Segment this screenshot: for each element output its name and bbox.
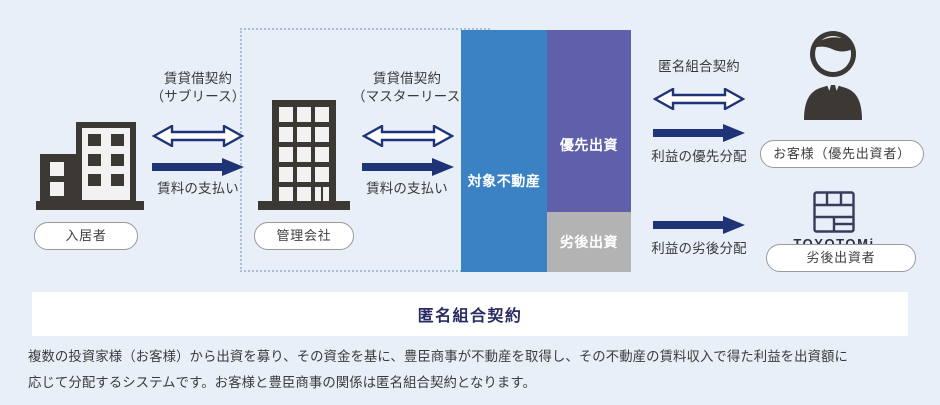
block-junior-investment-label: 劣後出資 xyxy=(560,232,618,252)
sublease-bidirectional-arrow-icon xyxy=(152,125,244,147)
tk-contract-top-label: 匿名組合契約 xyxy=(640,58,758,76)
tk-contract-card: 匿名組合契約 xyxy=(32,292,908,336)
masterlease-payment-arrow-icon xyxy=(362,158,454,176)
tk-contract-bottom-label: 利益の優先分配 xyxy=(640,148,758,166)
customer-person-icon xyxy=(800,30,866,122)
junior-profit-arrow-icon xyxy=(653,216,745,234)
masterlease-bottom-label: 賃料の支払い xyxy=(352,180,462,198)
description-text: 複数の投資家様（お客様）から出資を募り、その資金を基に、豊臣商事が不動産を取得し… xyxy=(28,344,918,396)
block-target-property: 対象不動産 xyxy=(461,30,547,272)
block-target-property-label: 対象不動産 xyxy=(468,171,541,191)
senior-profit-arrow-icon xyxy=(653,124,745,142)
block-senior-investment-label: 優先出資 xyxy=(560,135,618,155)
masterlease-top-label: 賃貸借契約 （マスターリース） xyxy=(352,70,462,106)
tk-contract-card-title: 匿名組合契約 xyxy=(418,302,523,326)
masterlease-top-label-line2: （マスターリース） xyxy=(352,88,462,106)
description-line-1: 複数の投資家様（お客様）から出資を募り、その資金を基に、豊臣商事が不動産を取得し… xyxy=(28,344,918,370)
description-line-2: 応じて分配するシステムです。お客様と豊臣商事の関係は匿名組合契約となります。 xyxy=(28,370,918,396)
management-label: 管理会社 xyxy=(254,222,354,250)
sublease-top-label-line2: （サブリース） xyxy=(148,88,248,106)
block-junior-investment: 劣後出資 xyxy=(547,212,631,272)
diagram-canvas: 入居者 賃貸借契約 （サブリース） 賃料の支払い xyxy=(0,0,940,405)
customer-label: お客様（優先出資者） xyxy=(760,140,924,168)
management-building-icon xyxy=(258,96,350,214)
toyotomi-label: 劣後出資者 xyxy=(766,244,916,272)
masterlease-top-label-line1: 賃貸借契約 xyxy=(352,70,462,88)
sublease-bottom-label: 賃料の支払い xyxy=(148,180,248,198)
sublease-payment-arrow-icon xyxy=(152,158,244,176)
block-senior-investment: 優先出資 xyxy=(547,30,631,212)
sublease-top-label: 賃貸借契約 （サブリース） xyxy=(148,70,248,106)
junior-distribution-label: 利益の劣後分配 xyxy=(640,240,758,258)
tenant-label: 入居者 xyxy=(34,222,138,250)
toyotomi-grid-logo-icon xyxy=(812,190,856,234)
masterlease-bidirectional-arrow-icon xyxy=(362,125,454,147)
sublease-top-label-line1: 賃貸借契約 xyxy=(148,70,248,88)
tenant-building-icon xyxy=(36,116,146,214)
tk-contract-bidirectional-arrow-icon xyxy=(653,88,745,110)
